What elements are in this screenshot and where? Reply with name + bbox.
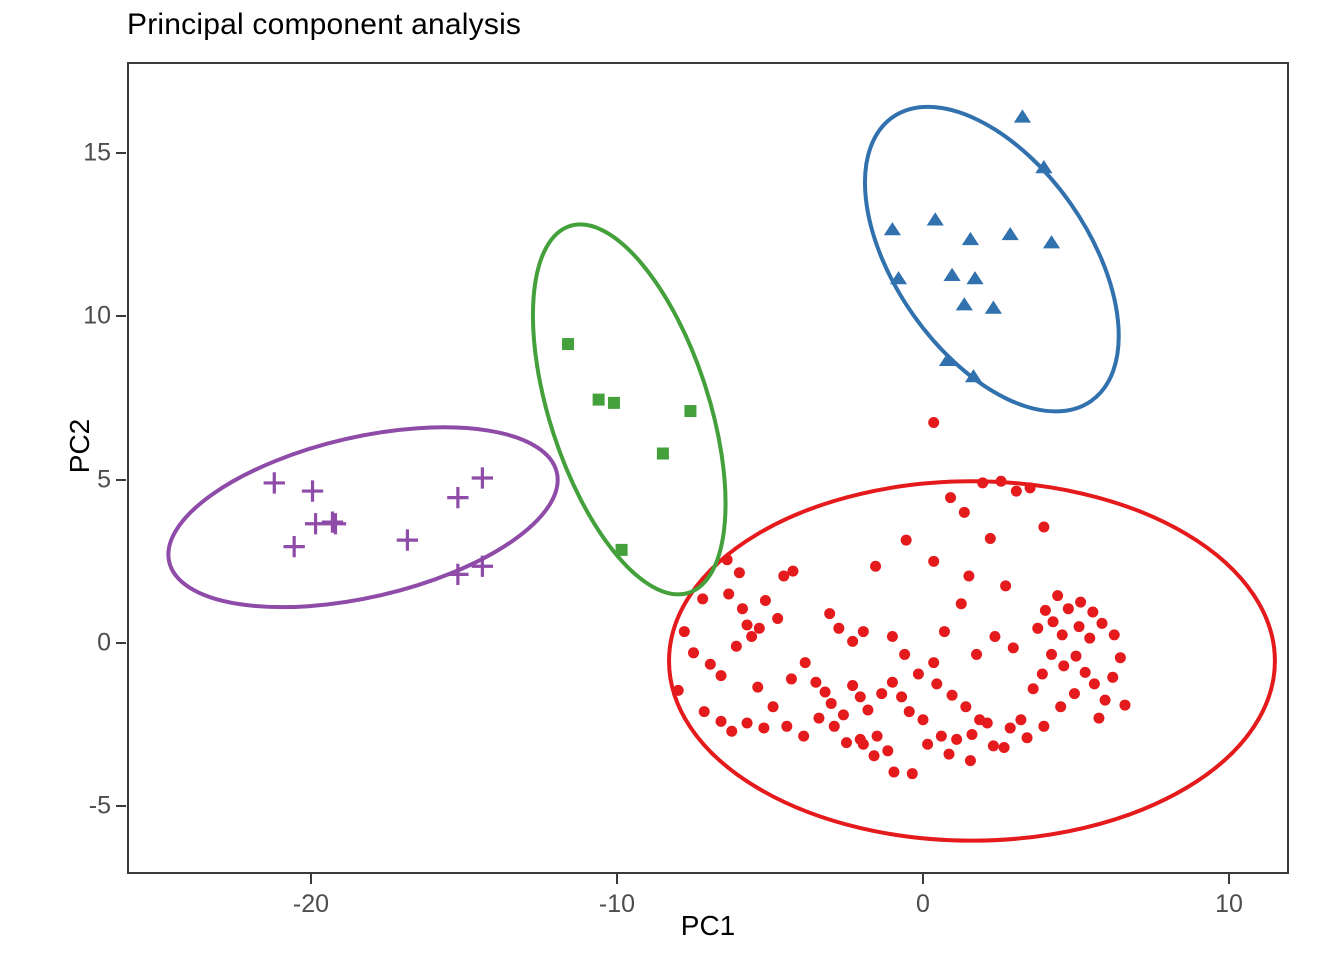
pca-scatter-plot: Principal component analysis PC2 PC1 -50… [0, 0, 1344, 960]
y-tick-mark [116, 479, 126, 481]
x-tick-label: -20 [271, 890, 351, 919]
x-tick-mark [310, 874, 312, 884]
y-tick-mark [116, 642, 126, 644]
y-tick-label: 15 [41, 138, 111, 167]
y-tick-mark [116, 805, 126, 807]
y-tick-label: -5 [41, 792, 111, 821]
y-tick-label: 5 [41, 465, 111, 494]
page-title: Principal component analysis [127, 8, 521, 42]
y-tick-label: 0 [41, 629, 111, 658]
x-tick-mark [1228, 874, 1230, 884]
x-tick-label: -10 [577, 890, 657, 919]
plot-panel [127, 62, 1289, 874]
y-tick-label: 10 [41, 302, 111, 331]
x-tick-mark [616, 874, 618, 884]
x-tick-label: 10 [1189, 890, 1269, 919]
y-tick-mark [116, 315, 126, 317]
x-tick-mark [922, 874, 924, 884]
x-tick-label: 0 [883, 890, 963, 919]
y-tick-mark [116, 152, 126, 154]
